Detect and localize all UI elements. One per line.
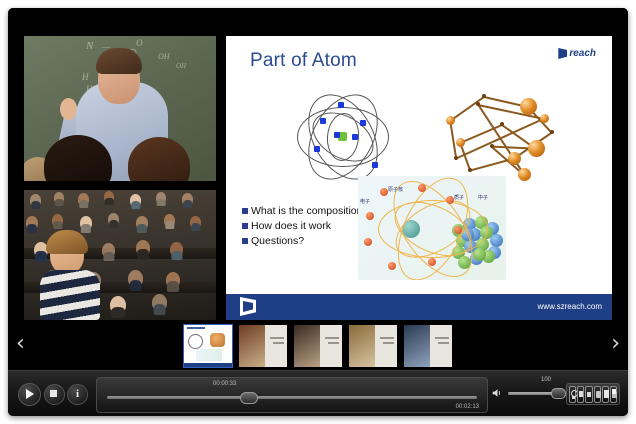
stop-button[interactable] [44, 384, 65, 405]
thumb-photo [349, 325, 375, 367]
thumb-inset [196, 349, 222, 361]
lattice-atom [520, 98, 537, 115]
slide-only-glyph [604, 390, 609, 398]
volume-icon[interactable] [492, 387, 503, 399]
thumb-text-line [435, 337, 449, 339]
player-controls: i 00:00:33 00:02:13 100 [8, 370, 628, 416]
lattice-atom [540, 114, 549, 123]
seek-bar[interactable]: 00:00:33 00:02:13 [96, 377, 488, 413]
audience-person [156, 192, 166, 204]
slide-filmstrip: ‹ › [8, 320, 628, 370]
electron-marker [334, 132, 340, 138]
fullscreen-glyph [612, 389, 616, 394]
video-player: N — O OH OH H H X C ○ Pa [8, 8, 628, 416]
audience-person [30, 194, 41, 207]
audience-video[interactable] [24, 190, 216, 320]
thumb-text-line [328, 342, 339, 344]
thumb-footer [184, 363, 232, 367]
lattice-vertex [500, 122, 504, 126]
thumb-text-line [438, 342, 449, 344]
slide-bullet-list: What is the compositionHow does it workQ… [242, 204, 362, 249]
audience-person [110, 296, 126, 314]
thumb-photo [294, 325, 320, 367]
flag-icon [558, 48, 567, 59]
next-slide-arrow-icon[interactable]: › [611, 332, 620, 356]
electron-marker [320, 118, 326, 124]
electron-particle [418, 184, 426, 192]
side-by-side-glyph [588, 392, 591, 397]
layout-mode-group [566, 383, 620, 405]
reach-logo: reach [558, 48, 596, 59]
layout-mode-side-by-side[interactable] [585, 386, 592, 403]
audience-person [182, 193, 193, 206]
inset-label: 原子核 [388, 186, 403, 193]
lattice-atom [456, 138, 465, 147]
slide-bullet-label: How does it work [251, 219, 331, 234]
audience-person [136, 240, 150, 256]
inset-label: 中子 [478, 194, 488, 201]
layout-mode-video-left[interactable] [577, 386, 584, 403]
volume-value-label: 100 [541, 377, 551, 383]
electron-particle [380, 188, 388, 196]
slide-title: Part of Atom [250, 50, 357, 72]
lattice-atom [508, 152, 521, 165]
audience-person [78, 193, 89, 206]
bullet-square-icon [242, 223, 248, 229]
slide-footer: www.szreach.com [226, 294, 612, 320]
thumb-text-line [380, 337, 394, 339]
audience-person [102, 243, 115, 258]
lattice-atom [518, 168, 531, 181]
play-button[interactable] [18, 383, 41, 406]
audience-person [128, 270, 143, 287]
electron-particle [454, 226, 462, 234]
neutron-sphere [490, 234, 503, 247]
presentation-slide[interactable]: Part of Atom reach What is the compositi… [226, 36, 612, 320]
electron-marker [338, 102, 344, 108]
electron-marker [314, 146, 320, 152]
proton-sphere [473, 248, 486, 261]
audience-person [170, 242, 183, 257]
thumb-slide-part-of-atom[interactable] [183, 324, 233, 368]
pip-glyph-small [572, 396, 575, 399]
thumb-text-line [270, 337, 284, 339]
slide-bullet-label: What is the composition [251, 204, 362, 219]
lattice-atom [528, 140, 545, 157]
video-left-glyph [579, 391, 583, 397]
inset-label: 质子 [454, 194, 464, 201]
footer-flag-icon [240, 297, 256, 316]
volume-handle[interactable] [551, 388, 566, 399]
electron-marker [360, 120, 366, 126]
layout-mode-fullscreen[interactable] [610, 386, 617, 403]
thumb-text-line [273, 342, 284, 344]
thumb-photo [404, 325, 430, 367]
lattice-bond [477, 104, 524, 175]
electron-particle [446, 196, 454, 204]
audience-person [166, 272, 180, 288]
slide-bullet: How does it work [242, 219, 362, 234]
electron-particle [366, 212, 374, 220]
thumb-page [430, 325, 452, 367]
audience-person [108, 213, 119, 226]
thumb-text-line [325, 337, 339, 339]
electron-particle [388, 262, 396, 270]
layout-mode-picture-in-picture[interactable] [569, 386, 576, 403]
instructor-hair [96, 48, 142, 74]
bullet-square-icon [242, 208, 248, 214]
video-only-glyph [596, 391, 601, 398]
audience-person [26, 216, 38, 230]
orbital-atom-diagram [294, 88, 390, 184]
thumb-photo [239, 325, 265, 367]
electron-marker [372, 162, 378, 168]
seek-track[interactable] [107, 396, 477, 399]
previous-slide-arrow-icon[interactable]: ‹ [16, 332, 25, 356]
thumbnail-list [183, 324, 453, 368]
bullet-square-icon [242, 238, 248, 244]
thumb-page [265, 325, 287, 367]
lattice-vertex [454, 156, 458, 160]
player-stage: N — O OH OH H H X C ○ Pa [8, 8, 628, 320]
layout-mode-slide-only[interactable] [602, 386, 609, 403]
thumb-slide-2[interactable] [238, 324, 288, 368]
current-time-label: 00:00:33 [213, 381, 236, 387]
electron-particle [428, 258, 436, 266]
electron-particle [364, 238, 372, 246]
thumb-lattice [210, 333, 225, 347]
thumb-atom [188, 334, 203, 349]
thumb-text-line [383, 342, 394, 344]
thumb-page [375, 325, 397, 367]
audience-person [130, 194, 141, 207]
lattice-vertex [550, 130, 554, 134]
lattice-atom [446, 116, 455, 125]
logo-text: reach [569, 48, 596, 59]
audience-person [190, 216, 201, 229]
duration-label: 00:02:13 [456, 404, 479, 410]
audience-person [52, 214, 63, 227]
electron-marker [352, 134, 358, 140]
thumb-title [187, 327, 205, 329]
lattice-vertex [468, 168, 472, 172]
lattice-vertex [490, 144, 494, 148]
atom-structure-illustration: 电子原子核质子中子 [358, 176, 506, 280]
thumb-slide-5[interactable] [403, 324, 453, 368]
thumb-slide-3[interactable] [293, 324, 343, 368]
audience-person [104, 191, 114, 203]
footer-url: www.szreach.com [538, 302, 602, 311]
audience-person [164, 214, 175, 227]
lattice-vertex [482, 94, 486, 98]
audience-person [80, 216, 92, 230]
thumb-slide-4[interactable] [348, 324, 398, 368]
slide-bullet: What is the composition [242, 204, 362, 219]
layout-mode-video-only[interactable] [594, 386, 601, 403]
audience-person [152, 294, 167, 311]
slide-bullet: Questions? [242, 234, 362, 249]
thumb-page [320, 325, 342, 367]
audience-person [54, 192, 64, 204]
inset-label: 电子 [360, 198, 370, 205]
instructor-video[interactable]: N — O OH OH H H X C ○ [24, 36, 216, 181]
instructor-hand [60, 98, 77, 120]
lattice-vertex [476, 102, 480, 106]
audience-foreground-person [40, 234, 102, 320]
slide-bullet-label: Questions? [251, 234, 304, 249]
seek-handle[interactable] [240, 392, 258, 404]
audience-person [136, 216, 148, 230]
info-button[interactable]: i [67, 384, 88, 405]
